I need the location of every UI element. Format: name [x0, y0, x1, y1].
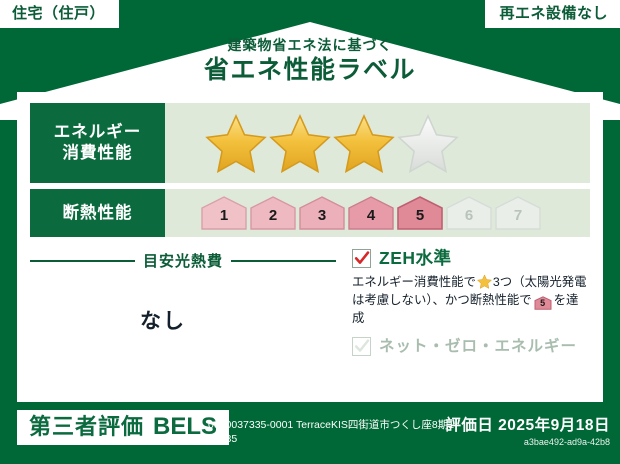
- zeh-desc-part2: は考慮しない）、かつ断熱性能で: [352, 293, 532, 307]
- zeh-standard-row[interactable]: ZEH水準: [352, 249, 590, 268]
- insulation-grade-badge-5: 5: [397, 196, 443, 230]
- star-rating: [205, 113, 459, 173]
- grade-number: 5: [416, 208, 424, 230]
- building-type-tag: 住宅（住戸）: [0, 0, 119, 28]
- grade-number: 5: [534, 296, 552, 311]
- insulation-performance-row: 断熱性能 1 2: [30, 189, 590, 237]
- zeh-checkbox-checked[interactable]: [352, 249, 371, 268]
- energy-performance-value-cell: [165, 103, 590, 183]
- insulation-grade-badge-1: 1: [201, 196, 247, 230]
- zeh-standard-label: ZEH水準: [379, 250, 452, 268]
- check-icon-faded: [354, 338, 370, 355]
- net-zero-energy-row[interactable]: ネット・ゼロ・エネルギー: [352, 337, 590, 356]
- bels-badge: 第三者評価 BELS: [17, 410, 229, 445]
- grade-number: 2: [269, 208, 277, 230]
- net-zero-energy-label: ネット・ゼロ・エネルギー: [379, 339, 577, 355]
- utility-cost-heading-text: 目安光熱費: [143, 250, 223, 271]
- insulation-grade-badge-6: 6: [446, 196, 492, 230]
- star-icon-filled-2: [269, 113, 331, 173]
- check-icon: [354, 250, 370, 267]
- certificate-id: 0000037335-0001 TerraceKIS四街道市つくし座8期1000…: [208, 419, 458, 446]
- insulation-grade-scale: 1 2 3: [201, 196, 541, 230]
- label-footer: 第三者評価 BELS 0000037335-0001 TerraceKIS四街道…: [0, 402, 620, 464]
- utility-cost-value: なし: [30, 305, 336, 335]
- grade-number: 1: [220, 208, 228, 230]
- zeh-desc-part1: エネルギー消費性能で: [352, 275, 476, 289]
- renewable-equipment-tag: 再エネ設備なし: [485, 0, 620, 28]
- energy-performance-row: エネルギー 消費性能: [30, 103, 590, 183]
- energy-performance-label: 住宅（住戸） 再エネ設備なし 建築物省エネ法に基づく 省エネ性能ラベル エネルギ…: [0, 0, 620, 464]
- evaluation-date-label: 評価日: [445, 417, 493, 434]
- bels-jp-label: 第三者評価: [29, 416, 144, 438]
- insulation-grade-badge-inline: 5: [534, 296, 552, 310]
- star-icon-filled-3: [333, 113, 395, 173]
- label-body: エネルギー 消費性能: [17, 92, 603, 402]
- grade-number: 4: [367, 208, 375, 230]
- insulation-grade-badge-4: 4: [348, 196, 394, 230]
- grade-number: 7: [514, 208, 522, 230]
- rule-left: [30, 260, 135, 262]
- zeh-panel: ZEH水準 エネルギー消費性能で 3つ（太陽光発電 は考慮しない）、かつ断熱性能…: [336, 244, 590, 390]
- insulation-label-text: 断熱性能: [63, 203, 133, 224]
- grade-number: 3: [318, 208, 326, 230]
- evaluation-date-value: 2025年9月18日: [498, 417, 610, 434]
- utility-cost-heading: 目安光熱費: [30, 250, 336, 271]
- energy-label-line2: 消費性能: [63, 143, 133, 164]
- insulation-performance-value-cell: 1 2 3: [165, 189, 590, 237]
- title-subtitle: 建築物省エネ法に基づく: [0, 38, 620, 53]
- insulation-performance-label-cell: 断熱性能: [30, 189, 165, 237]
- insulation-grade-badge-2: 2: [250, 196, 296, 230]
- energy-performance-label-cell: エネルギー 消費性能: [30, 103, 165, 183]
- evaluation-date-line: 評価日 2025年9月18日: [445, 417, 610, 434]
- net-zero-checkbox-unchecked[interactable]: [352, 337, 371, 356]
- energy-label-line1: エネルギー: [54, 122, 142, 143]
- insulation-grade-badge-3: 3: [299, 196, 345, 230]
- star-icon-empty-4: [397, 113, 459, 173]
- utility-cost-panel: 目安光熱費 なし: [30, 244, 336, 390]
- lower-section: 目安光熱費 なし ZEH水準 エネルギー消費性能で: [30, 244, 590, 390]
- evaluation-date-block: 評価日 2025年9月18日 a3bae492-ad9a-42b8: [445, 417, 610, 447]
- label-title: 建築物省エネ法に基づく 省エネ性能ラベル: [0, 38, 620, 85]
- evaluation-hash: a3bae492-ad9a-42b8: [445, 437, 610, 447]
- star-icon-inline: [477, 274, 492, 289]
- title-main: 省エネ性能ラベル: [0, 57, 620, 85]
- insulation-grade-badge-7: 7: [495, 196, 541, 230]
- grade-number: 6: [465, 208, 473, 230]
- rule-right: [231, 260, 336, 262]
- zeh-description: エネルギー消費性能で 3つ（太陽光発電 は考慮しない）、かつ断熱性能で 5 を達…: [352, 274, 590, 328]
- zeh-desc-stars: 3つ（太陽光発電: [493, 275, 587, 289]
- star-icon-filled-1: [205, 113, 267, 173]
